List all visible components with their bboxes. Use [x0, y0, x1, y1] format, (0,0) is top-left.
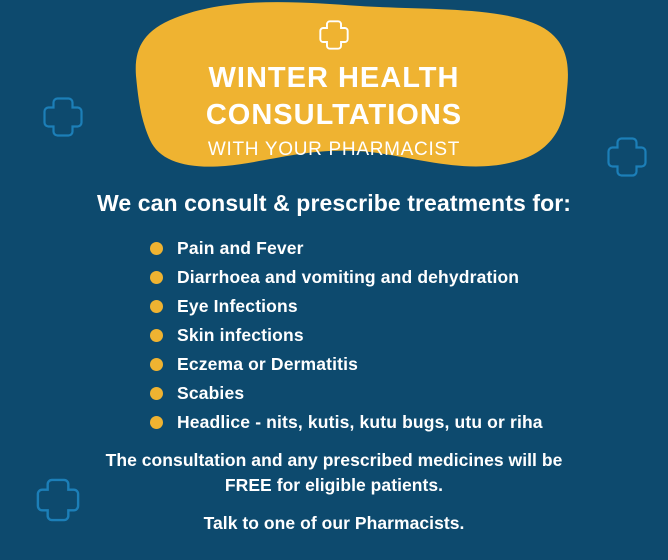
medical-cross-icon — [317, 18, 351, 57]
winter-health-poster: WINTER HEALTH CONSULTATIONS WITH YOUR PH… — [0, 0, 668, 560]
section-headline: We can consult & prescribe treatments fo… — [0, 190, 668, 217]
hero-title-line-1: WINTER HEALTH — [209, 60, 460, 97]
bullet-dot-icon — [150, 387, 163, 400]
bullet-dot-icon — [150, 416, 163, 429]
footer-cta: Talk to one of our Pharmacists. — [78, 513, 590, 534]
list-item-label: Pain and Fever — [177, 238, 304, 259]
list-item: Eczema or Dermatitis — [150, 350, 650, 379]
conditions-list: Pain and Fever Diarrhoea and vomiting an… — [150, 234, 650, 437]
list-item: Scabies — [150, 379, 650, 408]
list-item: Pain and Fever — [150, 234, 650, 263]
bullet-dot-icon — [150, 358, 163, 371]
list-item-label: Scabies — [177, 383, 244, 404]
list-item-label: Diarrhoea and vomiting and dehydration — [177, 267, 519, 288]
list-item: Eye Infections — [150, 292, 650, 321]
list-item-label: Eye Infections — [177, 296, 298, 317]
medical-cross-icon — [33, 475, 83, 525]
list-item-label: Eczema or Dermatitis — [177, 354, 358, 375]
list-item: Skin infections — [150, 321, 650, 350]
list-item-label: Headlice - nits, kutis, kutu bugs, utu o… — [177, 412, 543, 433]
hero-subtitle: WITH YOUR PHARMACIST — [208, 139, 460, 161]
hero-banner: WINTER HEALTH CONSULTATIONS WITH YOUR PH… — [0, 0, 668, 186]
list-item: Diarrhoea and vomiting and dehydration — [150, 263, 650, 292]
bullet-dot-icon — [150, 329, 163, 342]
list-item-label: Skin infections — [177, 325, 304, 346]
hero-title-line-2: CONSULTATIONS — [206, 97, 462, 134]
footer-note-line-1: The consultation and any prescribed medi… — [106, 450, 563, 470]
footer-note-line-2: FREE for eligible patients. — [225, 475, 443, 495]
bullet-dot-icon — [150, 271, 163, 284]
list-item: Headlice - nits, kutis, kutu bugs, utu o… — [150, 408, 650, 437]
footer-note: The consultation and any prescribed medi… — [78, 448, 590, 499]
bullet-dot-icon — [150, 242, 163, 255]
bullet-dot-icon — [150, 300, 163, 313]
